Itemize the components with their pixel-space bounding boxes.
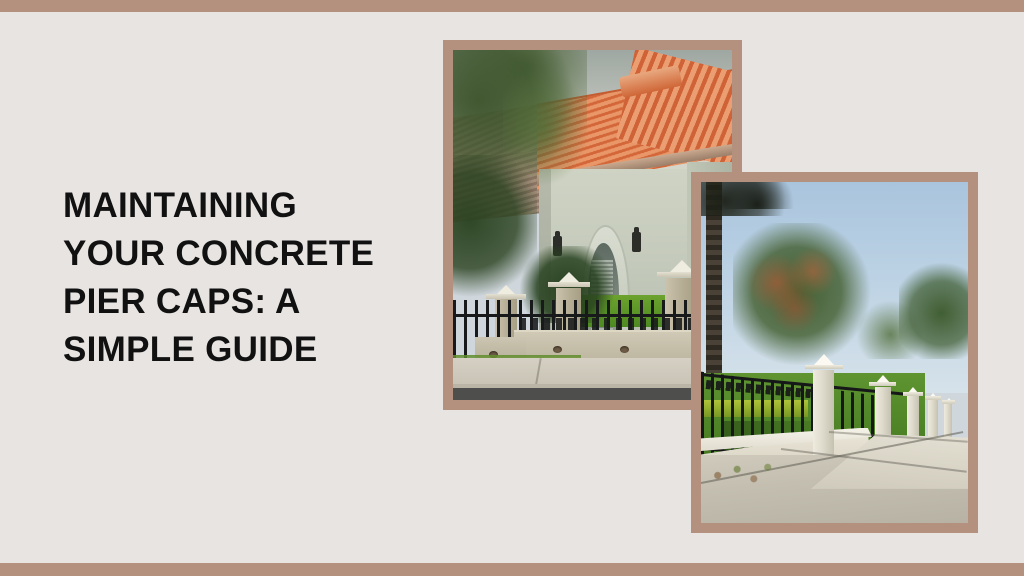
- concrete-pier-cap-5: [942, 398, 955, 404]
- concrete-pier-cap-2: [869, 375, 896, 386]
- page-title: MAINTAINING YOUR CONCRETE PIER CAPS: A S…: [63, 182, 423, 374]
- fence-line-photo: [701, 182, 968, 523]
- title-line-4: SIMPLE GUIDE: [63, 326, 423, 374]
- slide-canvas: MAINTAINING YOUR CONCRETE PIER CAPS: A S…: [0, 0, 1024, 576]
- concrete-pier-cap-2: [548, 272, 590, 287]
- iron-fence-scrollwork: [520, 318, 699, 330]
- title-line-2: YOUR CONCRETE: [63, 230, 423, 278]
- concrete-pier-cap-1: [486, 285, 525, 299]
- tree-blossoms: [738, 237, 866, 353]
- concrete-pier-cap-1: [805, 354, 842, 369]
- fence-line-photo-frame: [691, 172, 978, 533]
- palm-fronds-upper: [717, 182, 797, 209]
- top-accent-bar: [0, 0, 1024, 12]
- title-line-1: MAINTAINING: [63, 182, 423, 230]
- title-line-3: PIER CAPS: A: [63, 278, 423, 326]
- concrete-pier-cap-3: [903, 387, 923, 396]
- tree-right: [899, 257, 968, 359]
- bottom-accent-bar: [0, 563, 1024, 576]
- concrete-pier-cap-4: [925, 393, 941, 400]
- weeds-at-wall-base: [701, 455, 840, 489]
- wall-lantern-right: [632, 232, 641, 252]
